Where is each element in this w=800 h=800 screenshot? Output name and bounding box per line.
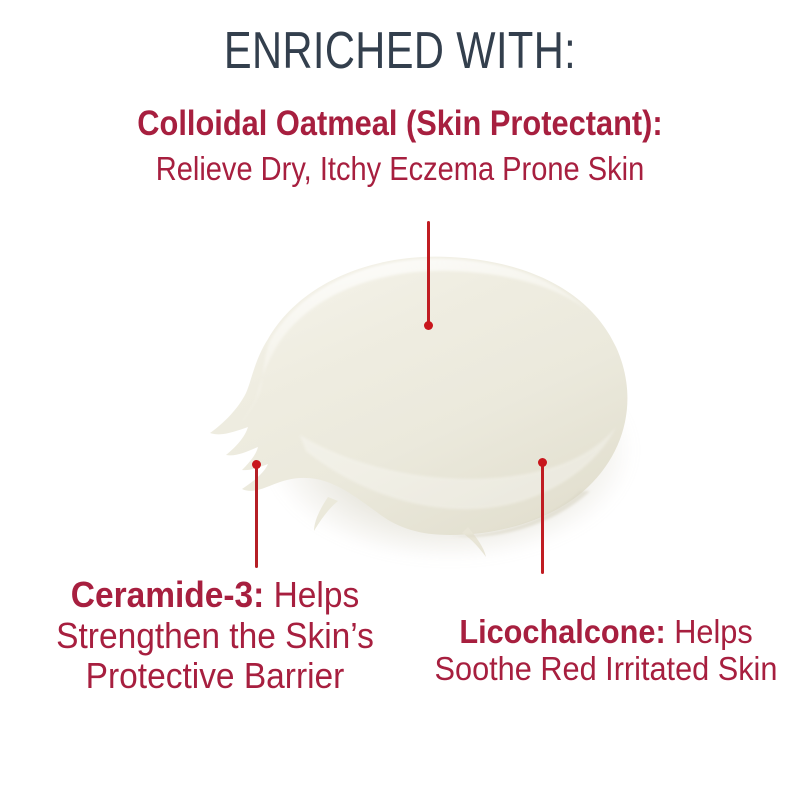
pointer-line (541, 462, 544, 574)
ingredient-name: Licochalcone: (459, 613, 665, 650)
ingredient-licochalcone: Licochalcone: Helps Soothe Red Irritated… (431, 613, 781, 688)
ingredient-benefit: Relieve Dry, Itchy Eczema Prone Skin (48, 150, 752, 187)
page-title: ENRICHED WITH: (80, 24, 720, 79)
ingredient-name: Colloidal Oatmeal (Skin Protectant): (48, 104, 752, 144)
pointer-dot (252, 460, 261, 469)
pointer-dot (538, 458, 547, 467)
ingredient-colloidal-oatmeal: Colloidal Oatmeal (Skin Protectant): Rel… (48, 104, 752, 187)
pointer-line (255, 464, 258, 568)
ingredient-ceramide-3: Ceramide-3: Helps Strengthen the Skin’s … (22, 575, 407, 697)
ingredient-name: Ceramide-3: (71, 574, 265, 615)
cream-smear-swatch (150, 235, 650, 565)
pointer-dot (424, 321, 433, 330)
enriched-with-infographic: ENRICHED WITH: (0, 0, 800, 800)
pointer-line (427, 221, 430, 327)
